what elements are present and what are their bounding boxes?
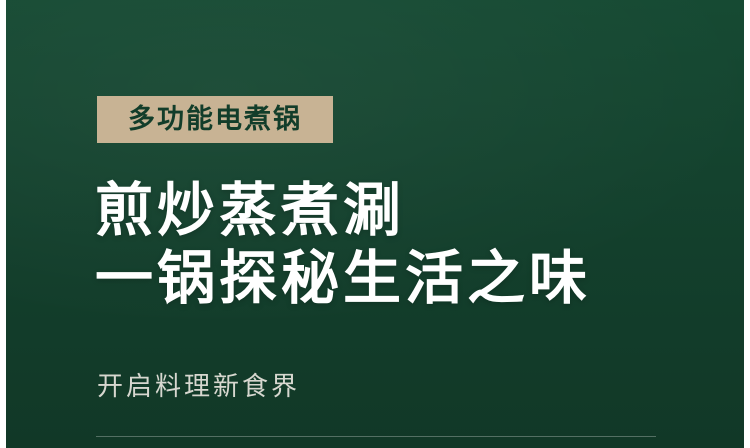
- promo-poster: 多功能电煮锅 煎炒蒸煮涮 一锅探秘生活之味 开启料理新食界: [0, 0, 750, 448]
- subheadline: 开启料理新食界: [97, 374, 300, 400]
- product-category-badge-label: 多功能电煮锅: [128, 106, 302, 133]
- headline-line-1: 煎炒蒸煮涮: [95, 176, 405, 244]
- divider-line: [96, 436, 656, 437]
- product-category-badge: 多功能电煮锅: [97, 96, 333, 143]
- headline: 煎炒蒸煮涮 一锅探秘生活之味: [95, 176, 591, 312]
- headline-line-2: 一锅探秘生活之味: [95, 244, 591, 312]
- poster-content: 多功能电煮锅 煎炒蒸煮涮 一锅探秘生活之味 开启料理新食界: [0, 0, 750, 448]
